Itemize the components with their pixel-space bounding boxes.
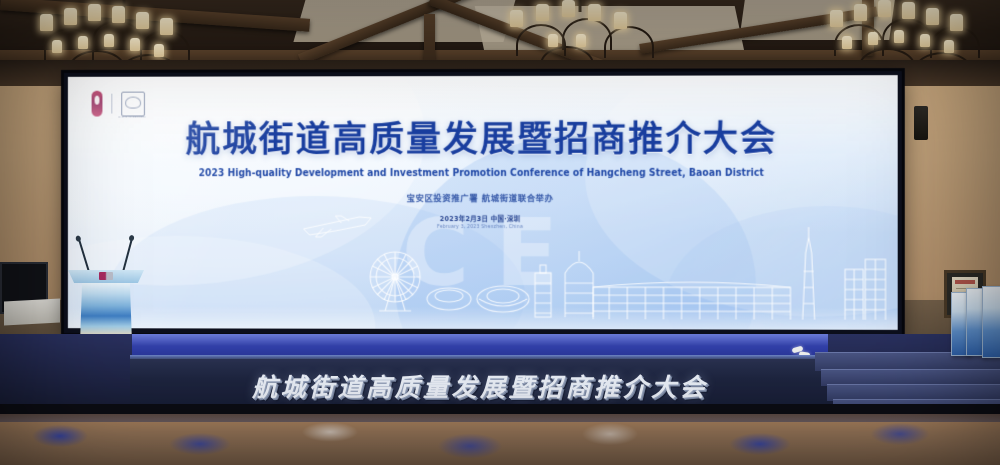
square-logo [121,91,145,116]
square-logo-caption: BAOAN INVESTMENT [117,115,147,118]
stage-front-title: 航城街道高质量发展暨招商推介大会 [130,368,830,404]
screen-host-line: 宝安区投资推广署 航城街道联合举办 [68,192,898,204]
conference-stage-screenshot: CE BAOAN INVESTMENT 航城街道高质量发展暨招商推介大会 202… [0,0,1000,465]
screen-main-title: 航城街道高质量发展暨招商推介大会 [68,119,898,160]
podium-logo [99,272,113,280]
carpet-edge-shadow [0,414,1000,422]
logo-divider [111,94,112,114]
screen-logo-group: BAOAN INVESTMENT [92,91,145,117]
screen-skyline-graphic [68,209,898,320]
led-screen: CE BAOAN INVESTMENT 航城街道高质量发展暨招商推介大会 202… [68,75,898,330]
screen-subtitle-en: 2023 High-quality Development and Invest… [84,168,881,179]
led-screen-frame: CE BAOAN INVESTMENT 航城街道高质量发展暨招商推介大会 202… [64,71,902,335]
side-table [4,299,60,326]
ceiling-speaker [914,106,928,140]
banner-board-3 [982,286,1000,358]
emblem-logo [92,91,103,117]
